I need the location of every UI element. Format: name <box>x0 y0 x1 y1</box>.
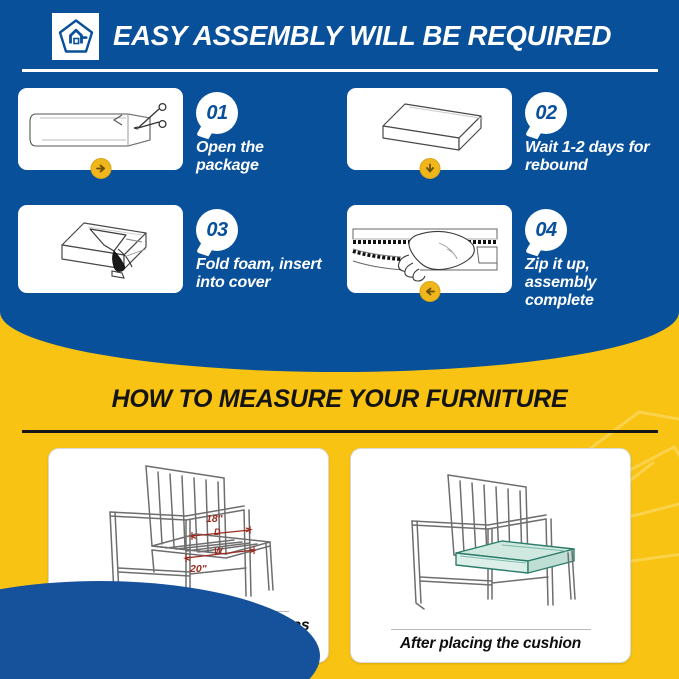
chair-with-teal-cushion-icon <box>351 449 630 629</box>
pentagon-house-icon <box>52 13 99 60</box>
step-02: 02 Wait 1-2 days for rebound <box>329 88 658 175</box>
arrow-left-icon <box>419 281 440 302</box>
step-04-label: Zip it up, assembly complete <box>525 256 658 310</box>
dimension-width-axis: W <box>214 546 224 556</box>
arrow-down-icon <box>419 158 440 179</box>
step-03-text: 03 Fold foam, insert into cover <box>196 205 329 292</box>
step-02-number-badge: 02 <box>525 92 567 134</box>
step-02-illustration <box>347 88 512 170</box>
step-01: 01 Open the package <box>0 88 329 175</box>
step-04-number-badge: 04 <box>525 209 567 251</box>
dimension-depth-axis: D <box>214 527 221 537</box>
steps-row-1: 01 Open the package <box>0 88 679 175</box>
assembly-section: EASY ASSEMBLY WILL BE REQUIRED <box>0 0 679 372</box>
step-01-label: Open the package <box>196 139 329 175</box>
step-02-text: 02 Wait 1-2 days for rebound <box>525 88 658 175</box>
measure-card-cushion: After placing the cushion <box>350 448 631 663</box>
step-04-illustration <box>347 205 512 293</box>
step-03-number-badge: 03 <box>196 209 238 251</box>
step-03: 03 Fold foam, insert into cover <box>0 205 329 310</box>
step-03-label: Fold foam, insert into cover <box>196 256 329 292</box>
step-01-number-badge: 01 <box>196 92 238 134</box>
step-04: 04 Zip it up, assembly complete <box>329 205 658 310</box>
arrow-right-icon <box>90 158 111 179</box>
header: EASY ASSEMBLY WILL BE REQUIRED <box>0 8 679 64</box>
step-01-text: 01 Open the package <box>196 88 329 175</box>
step-02-label: Wait 1-2 days for rebound <box>525 139 658 175</box>
steps-grid: 01 Open the package <box>0 88 679 310</box>
step-03-illustration <box>18 205 183 293</box>
step-04-text: 04 Zip it up, assembly complete <box>525 205 658 310</box>
infographic-page: EASY ASSEMBLY WILL BE REQUIRED <box>0 0 679 679</box>
step-03-number: 03 <box>206 220 227 240</box>
step-01-illustration <box>18 88 183 170</box>
steps-row-2: 03 Fold foam, insert into cover <box>0 205 679 310</box>
measure-title: HOW TO MEASURE YOUR FURNITURE <box>0 387 679 412</box>
step-04-number: 04 <box>535 220 556 240</box>
step-01-number: 01 <box>206 103 227 123</box>
dimension-depth-value: 18" <box>206 513 224 525</box>
header-title: EASY ASSEMBLY WILL BE REQUIRED <box>113 22 611 50</box>
step-02-number: 02 <box>535 103 556 123</box>
header-divider <box>22 69 658 72</box>
measure-section: HOW TO MEASURE YOUR FURNITURE <box>0 372 679 679</box>
measure-divider <box>22 430 658 433</box>
measure-card-2-caption: After placing the cushion <box>390 630 591 662</box>
dimension-width-value: 20" <box>189 563 208 575</box>
